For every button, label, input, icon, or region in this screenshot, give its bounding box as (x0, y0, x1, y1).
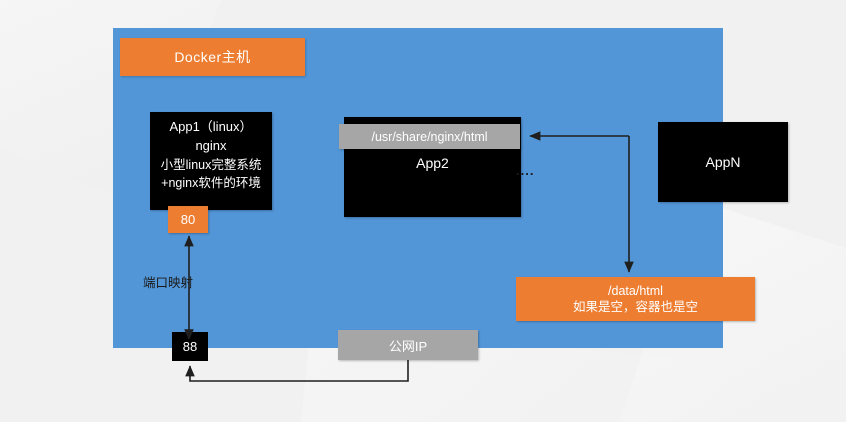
host-volume-path: /data/html (608, 283, 663, 299)
container-mount-path-label: /usr/share/nginx/html (339, 124, 520, 149)
docker-host-title-label: Docker主机 (174, 47, 250, 67)
app1-line-2: nginx (195, 137, 226, 156)
public-ip-to-host-port-arrow (190, 360, 408, 381)
appn-container-box: AppN (658, 122, 788, 202)
docker-host-title-band: Docker主机 (120, 38, 305, 76)
container-mount-path-text: /usr/share/nginx/html (371, 130, 487, 144)
container-port-80-label: 80 (181, 212, 195, 227)
app1-line-4: +nginx软件的环境 (161, 174, 261, 192)
host-port-88-label: 88 (183, 339, 197, 354)
public-ip-label: 公网IP (389, 336, 427, 355)
app1-container-box: App1（linux） nginx 小型linux完整系统 +nginx软件的环… (150, 112, 272, 210)
appn-label: AppN (705, 154, 740, 170)
public-ip-box: 公网IP (338, 330, 478, 360)
app2-label: App2 (416, 155, 449, 171)
diagram-canvas: Docker主机 App1（linux） nginx 小型linux完整系统 +… (0, 0, 846, 422)
app1-line-1: App1（linux） (169, 118, 252, 137)
host-port-88-box: 88 (172, 332, 208, 361)
host-volume-box: /data/html 如果是空，容器也是空 (516, 277, 755, 321)
host-volume-note: 如果是空，容器也是空 (573, 299, 698, 315)
app1-line-3: 小型linux完整系统 (161, 156, 262, 174)
more-containers-ellipsis: .... (516, 163, 534, 178)
container-port-80-box: 80 (168, 206, 208, 233)
port-mapping-caption: 端口映射 (143, 272, 193, 291)
